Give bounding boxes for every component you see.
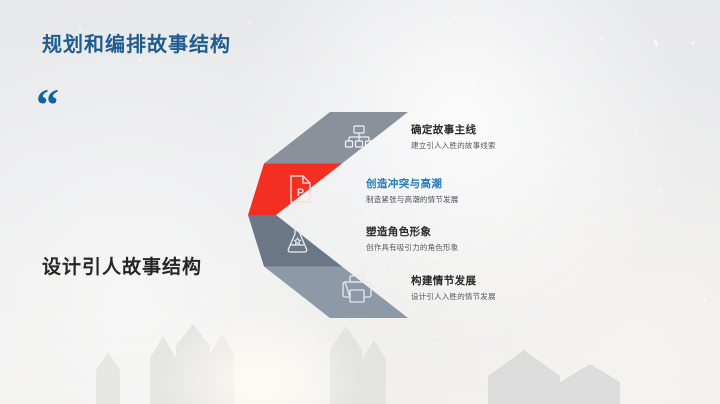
treeline-silhouette — [0, 324, 720, 404]
list-item[interactable]: 确定故事主线 建立引人入胜的故事线索 — [411, 122, 496, 151]
item-title: 构建情节发展 — [411, 273, 496, 288]
chevron-band-2[interactable] — [248, 164, 342, 216]
list-item[interactable]: 塑造角色形象 创作具有吸引力的角色形象 — [366, 224, 458, 253]
page-title: 规划和编排故事结构 — [42, 28, 231, 57]
item-title: 确定故事主线 — [411, 122, 496, 137]
quote-mark-icon: “ — [36, 82, 59, 128]
chevron-diagram: P — [248, 112, 408, 318]
chevron-band-1[interactable] — [264, 112, 408, 164]
item-subtitle: 制造紧张与高潮的情节发展 — [366, 194, 458, 205]
chevron-band-4[interactable] — [264, 267, 408, 319]
list-item[interactable]: 构建情节发展 设计引人入胜的情节发展 — [411, 273, 496, 302]
item-subtitle: 建立引人入胜的故事线索 — [411, 140, 496, 151]
background-light-glow — [150, 304, 370, 404]
item-subtitle: 设计引人入胜的情节发展 — [411, 291, 496, 302]
slide-canvas: 规划和编排故事结构 “ 设计引人故事结构 P — [0, 0, 720, 404]
item-subtitle: 创作具有吸引力的角色形象 — [366, 242, 458, 253]
section-heading: 设计引人故事结构 — [42, 252, 202, 279]
svg-text:P: P — [297, 187, 304, 199]
list-item[interactable]: 创造冲突与高潮 制造紧张与高潮的情节发展 — [366, 176, 458, 205]
item-title: 塑造角色形象 — [366, 224, 458, 239]
item-title: 创造冲突与高潮 — [366, 176, 458, 191]
